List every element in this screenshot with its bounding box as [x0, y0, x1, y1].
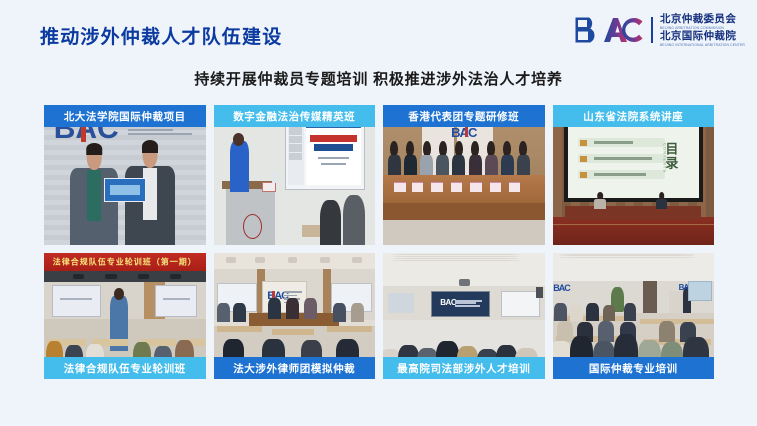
logo-name-en-2: BEIJING INTERNATIONAL ARBITRATION CENTER	[660, 42, 745, 46]
page-title: 推动涉外仲裁人才队伍建设	[40, 22, 282, 49]
card-international-arbitration-professional-training[interactable]: BAC BAC	[553, 253, 715, 379]
logo-name-cn-1: 北京仲裁委员会	[660, 14, 745, 25]
bac-logo: 北京仲裁委员会 BEIJING ARBITRATION COMMISSION 北…	[574, 14, 745, 46]
card-caption: 法律合规队伍专业轮训班	[44, 357, 206, 379]
logo-name-cn-2: 北京国际仲裁院	[660, 31, 745, 42]
card-digital-finance-media-elite-class[interactable]: OK 数字金融法治传媒精英班	[214, 105, 376, 245]
card-caption: 北大法学院国际仲裁项目	[44, 105, 206, 127]
photo-banner-text: 法律合规队伍专业轮训班（第一期）	[53, 256, 197, 267]
card-caption: 国际仲裁专业培训	[553, 357, 715, 379]
card-shandong-court-system-lecture[interactable]: 目录 CONTENTS 山东省法院系统讲座	[553, 105, 715, 245]
card-cupl-foreign-lawyers-mock-arbitration[interactable]: BAC	[214, 253, 376, 379]
logo-divider	[651, 17, 653, 43]
logo-wordmark: 北京仲裁委员会 BEIJING ARBITRATION COMMISSION 北…	[660, 14, 745, 47]
card-supreme-court-moj-foreign-talent-training[interactable]: BAC	[383, 253, 545, 379]
bac-logo-mark	[574, 16, 646, 44]
card-pku-international-arbitration-program[interactable]: BAC 北大法学院国际仲裁项目	[44, 105, 206, 245]
card-caption: 最高院司法部涉外人才培训	[383, 357, 545, 379]
photo-grid: BAC 北大法学院国际仲裁项目 OK	[44, 105, 714, 379]
card-caption: 山东省法院系统讲座	[553, 105, 715, 127]
slide-header: 推动涉外仲裁人才队伍建设 北	[0, 0, 757, 60]
photo-wall-logo-left-text: BAC	[553, 283, 570, 293]
card-caption: 法大涉外律师团模拟仲裁	[214, 357, 376, 379]
card-hongkong-delegation-seminar[interactable]: BAC 香港代表团专题研修	[383, 105, 545, 245]
card-caption: 香港代表团专题研修班	[383, 105, 545, 127]
logo-name-en-1: BEIJING ARBITRATION COMMISSION	[660, 25, 745, 29]
slide-subtitle: 持续开展仲裁员专题培训 积极推进涉外法治人才培养	[0, 68, 757, 89]
card-caption: 数字金融法治传媒精英班	[214, 105, 376, 127]
card-legal-compliance-rotation-training[interactable]: 法律合规队伍专业轮训班（第一期）	[44, 253, 206, 379]
photo-screen-logo-text: BAC	[440, 298, 456, 307]
